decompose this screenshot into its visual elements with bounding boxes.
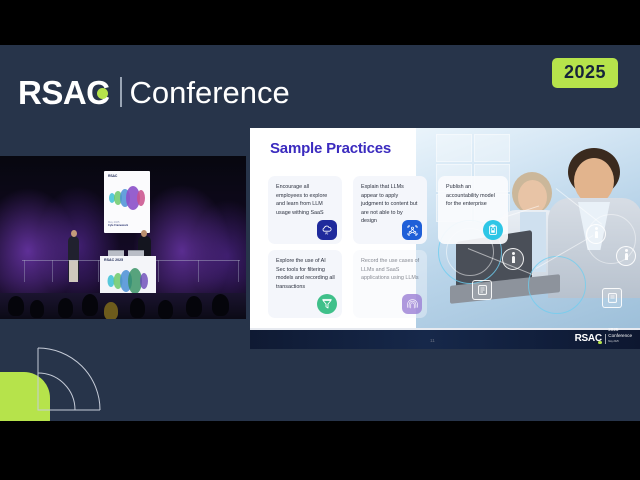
rsac-conference-logo: RSAC Conference <box>18 72 290 112</box>
practice-card-text: Record the use cases of LLMs and SaaS ap… <box>361 257 420 283</box>
rail-post-1 <box>24 260 25 282</box>
speaker-right-head <box>141 230 147 237</box>
rail-post-5 <box>198 260 199 282</box>
presentation-slide[interactable]: Sample Practices Encourage all employees… <box>250 128 640 349</box>
audience-member <box>30 300 44 318</box>
slide-logo-conference: Conference <box>608 333 632 338</box>
rsac-wordmark: RSAC <box>18 76 110 109</box>
slide-title: Sample Practices <box>270 141 391 158</box>
slide-logo-year: 2025 <box>608 327 618 332</box>
photo-window <box>474 134 510 162</box>
year-badge: 2025 <box>552 58 618 88</box>
fingerprint-icon <box>402 294 422 314</box>
audience-member <box>58 298 73 318</box>
person-woman-face <box>518 180 547 214</box>
conference-wordmark: Conference <box>130 77 290 108</box>
audience-member <box>104 302 118 319</box>
rail-post-2 <box>52 260 53 282</box>
rail-post-6 <box>238 260 239 282</box>
document-icon <box>478 285 487 295</box>
rsac-green-dot-icon <box>97 88 108 99</box>
network-ring <box>528 256 586 314</box>
logo-divider <box>120 77 122 107</box>
slide-logo-divider <box>605 334 606 344</box>
practice-card-text: Encourage all employees to explore and l… <box>276 183 335 217</box>
practice-card-encourage[interactable]: Encourage all employees to explore and l… <box>268 176 342 244</box>
svg-text:AI: AI <box>325 231 328 235</box>
stage-rail-left <box>22 260 100 261</box>
slide-logo-sub: May 2025 <box>608 340 619 343</box>
screen: RSAC Conference 2025 RSAC <box>0 0 640 480</box>
practice-card-explore[interactable]: Explore the use of AI Sec tools for filt… <box>268 250 342 318</box>
cloud-ai-icon: AI <box>317 220 337 240</box>
rail-post-3 <box>98 260 99 282</box>
audience-member <box>8 296 24 316</box>
slide-footer-logo: RSAC 2025 Conference May 2025 <box>575 327 632 344</box>
banner-subtitle: Cyle Framework <box>108 224 128 227</box>
neural-network-icon <box>402 220 422 240</box>
speaker-left-head <box>71 230 77 237</box>
person-node-icon <box>616 246 636 266</box>
quarter-arc-icon <box>0 340 130 421</box>
document-node-icon <box>472 280 492 300</box>
funnel-filter-icon <box>317 294 337 314</box>
audience-member <box>186 296 202 317</box>
practice-card-text: Explore the use of AI Sec tools for filt… <box>276 257 335 291</box>
audience-member <box>212 294 229 316</box>
slide-logo-text: 2025 Conference May 2025 <box>608 327 632 344</box>
practice-card-text: Publish an accountability model for the … <box>446 183 501 209</box>
audience-member <box>130 298 145 318</box>
slide-page-number: 11 <box>430 338 435 343</box>
slide-logo-dot-icon <box>598 341 601 344</box>
clipboard-lock-icon <box>483 220 503 240</box>
banner-rsac-text: RSAC <box>108 174 150 178</box>
person-node-icon <box>502 248 524 270</box>
speaker-left-legs <box>69 260 78 282</box>
stage-video-feed[interactable]: RSAC May 2025 Cyle Framework <box>0 156 246 319</box>
banner-footer: May 2025 Cyle Framework <box>108 221 128 227</box>
rail-post-4 <box>158 260 159 282</box>
audience-member <box>158 300 173 319</box>
document-icon <box>608 293 617 303</box>
banner-wave-graphic <box>106 183 148 213</box>
practice-card-publish[interactable]: Publish an accountability model for the … <box>438 176 508 244</box>
corner-decoration <box>0 340 130 421</box>
photo-window <box>436 134 472 162</box>
audience-member <box>82 294 98 316</box>
stage-banner: RSAC May 2025 Cyle Framework <box>104 171 150 233</box>
document-node-icon <box>602 288 622 308</box>
podium-logo-text: RSAC 2025 <box>104 258 156 262</box>
person-node-icon <box>586 224 606 244</box>
broadcast-content-area: RSAC Conference 2025 RSAC <box>0 45 640 421</box>
practice-card-record[interactable]: Record the use cases of LLMs and SaaS ap… <box>353 250 427 318</box>
practice-card-explain[interactable]: Explain that LLMs appear to apply judgme… <box>353 176 427 244</box>
